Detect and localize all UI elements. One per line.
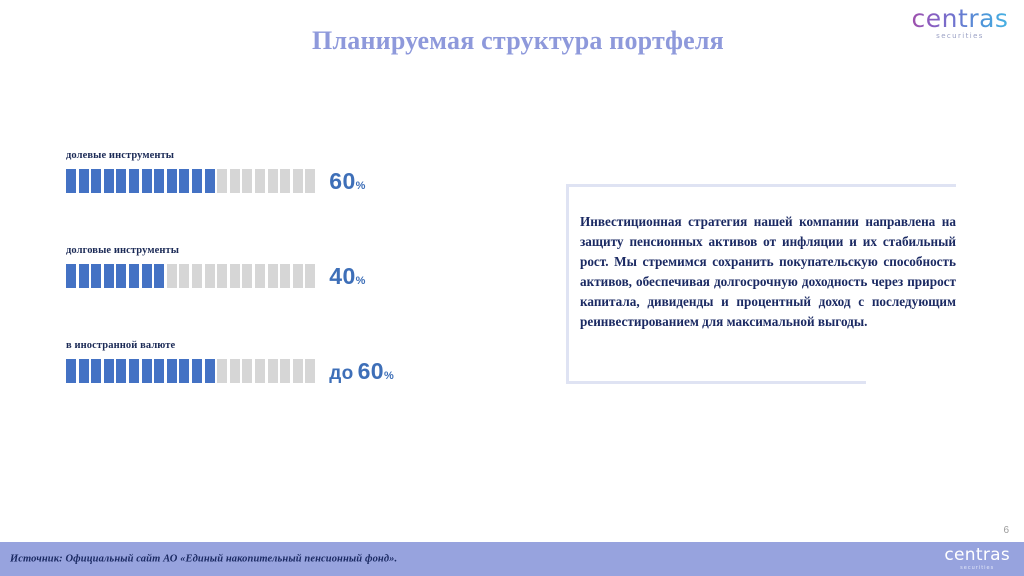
segment-empty — [255, 169, 265, 193]
segment-empty — [255, 359, 265, 383]
segment-empty — [230, 264, 240, 288]
segment-filled — [66, 359, 76, 383]
segment-filled — [205, 169, 215, 193]
segment-empty — [230, 169, 240, 193]
bar-value-percent: % — [384, 370, 394, 382]
segment-filled — [91, 264, 101, 288]
segment-empty — [217, 264, 227, 288]
segment-filled — [142, 359, 152, 383]
bar-value-percent: % — [356, 275, 366, 287]
segment-filled — [154, 169, 164, 193]
segment-empty — [242, 359, 252, 383]
bar-row: 60% — [66, 169, 486, 193]
segment-filled — [129, 169, 139, 193]
segment-empty — [192, 264, 202, 288]
segment-track — [66, 169, 315, 193]
segment-empty — [217, 359, 227, 383]
segment-filled — [192, 359, 202, 383]
segment-filled — [104, 359, 114, 383]
bar-value: 60% — [329, 170, 365, 193]
segment-filled — [142, 264, 152, 288]
segment-filled — [179, 169, 189, 193]
segment-filled — [116, 169, 126, 193]
segment-empty — [230, 359, 240, 383]
bar-value-number: 40 — [329, 263, 355, 289]
bar-group-equity: долевые инструменты — [66, 150, 486, 193]
bar-label: в иностранной валюте — [66, 340, 486, 351]
footer-logo-subwordmark: securities — [944, 565, 1010, 571]
panel-border-left — [566, 184, 569, 384]
segment-track — [66, 359, 315, 383]
segment-filled — [167, 169, 177, 193]
bar-value-number: 60 — [329, 168, 355, 194]
strategy-text: Инвестиционная стратегия нашей компании … — [580, 212, 956, 332]
slide-root: centras securities Планируемая структура… — [0, 0, 1024, 576]
segment-track — [66, 264, 315, 288]
segment-filled — [192, 169, 202, 193]
bar-group-foreign-currency: в иностранной валюте — [66, 340, 486, 383]
segment-filled — [129, 264, 139, 288]
page-number: 6 — [1003, 525, 1009, 536]
segment-empty — [217, 169, 227, 193]
bar-row: 40% — [66, 264, 486, 288]
footer-band: Источник: Официальный сайт АО «Единый на… — [0, 542, 1024, 576]
segment-filled — [91, 359, 101, 383]
segment-empty — [280, 264, 290, 288]
footer-centras-logo: centras securities — [944, 547, 1010, 571]
bar-value: 40% — [329, 265, 365, 288]
segment-empty — [280, 169, 290, 193]
page-title: Планируемая структура портфеля — [0, 26, 1024, 56]
bar-row: до60% — [66, 359, 486, 383]
segment-filled — [116, 359, 126, 383]
segment-empty — [255, 264, 265, 288]
segment-filled — [91, 169, 101, 193]
segment-empty — [305, 264, 315, 288]
segment-filled — [142, 169, 152, 193]
segment-empty — [293, 359, 303, 383]
strategy-text-panel: Инвестиционная стратегия нашей компании … — [566, 184, 958, 384]
segment-filled — [104, 264, 114, 288]
segment-filled — [79, 359, 89, 383]
bar-value: до60% — [329, 360, 393, 383]
segment-filled — [154, 264, 164, 288]
segment-empty — [242, 169, 252, 193]
segment-filled — [154, 359, 164, 383]
bar-group-debt: долговые инструменты — [66, 245, 486, 288]
panel-border-top — [566, 184, 956, 187]
segment-filled — [205, 359, 215, 383]
segment-filled — [129, 359, 139, 383]
footer-logo-wordmark: centras — [944, 547, 1010, 564]
segment-filled — [179, 359, 189, 383]
bar-label: долевые инструменты — [66, 150, 486, 161]
segment-empty — [242, 264, 252, 288]
segment-empty — [268, 264, 278, 288]
segment-filled — [66, 264, 76, 288]
segment-empty — [167, 264, 177, 288]
segment-filled — [167, 359, 177, 383]
segment-filled — [79, 169, 89, 193]
bar-value-prefix: до — [329, 363, 353, 384]
segment-filled — [66, 169, 76, 193]
segment-empty — [293, 169, 303, 193]
segment-empty — [305, 359, 315, 383]
segment-empty — [205, 264, 215, 288]
segment-filled — [104, 169, 114, 193]
segment-empty — [305, 169, 315, 193]
segment-empty — [179, 264, 189, 288]
segment-empty — [268, 359, 278, 383]
segment-empty — [280, 359, 290, 383]
segment-empty — [293, 264, 303, 288]
bar-chart-area: долевые инструменты — [66, 150, 486, 383]
source-note: Источник: Официальный сайт АО «Единый на… — [10, 554, 397, 565]
segment-filled — [79, 264, 89, 288]
segment-filled — [116, 264, 126, 288]
bar-value-number: 60 — [358, 358, 384, 384]
bar-value-percent: % — [356, 180, 366, 192]
bar-label: долговые инструменты — [66, 245, 486, 256]
panel-border-bottom — [566, 381, 866, 384]
segment-empty — [268, 169, 278, 193]
